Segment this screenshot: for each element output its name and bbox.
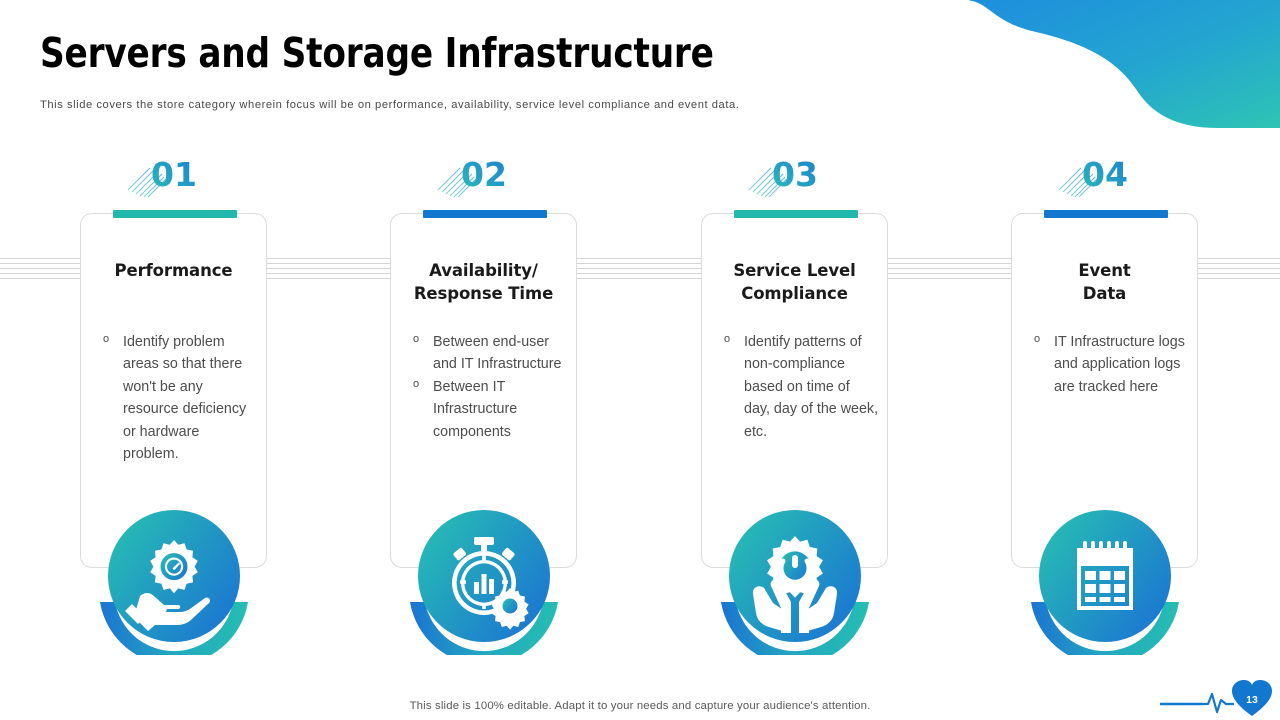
step-number-1-text: 01 — [151, 155, 197, 194]
slide-canvas: Servers and Storage Infrastructure This … — [0, 0, 1280, 720]
bullet-text: Between IT Infrastructure components — [433, 379, 517, 440]
slide-subtitle: This slide covers the store category whe… — [40, 99, 739, 111]
card-accent-bar-4 — [1044, 210, 1168, 218]
bullet-text: IT Infrastructure logs and application l… — [1054, 334, 1185, 395]
step-number-1: 01 — [74, 150, 274, 198]
bullet-marker: o — [413, 376, 419, 393]
card-icon-2 — [380, 510, 588, 655]
bullet-marker: o — [724, 331, 730, 348]
step-number-4-text: 04 — [1082, 155, 1128, 194]
card-accent-bar-1 — [113, 210, 237, 218]
feature-card-3[interactable]: 03 Service Level Compliance oIdentify pa… — [695, 150, 895, 198]
card-bullets-1: oIdentify problem areas so that there wo… — [103, 331, 258, 466]
step-number-3: 03 — [695, 150, 895, 198]
bullet-text: Between end-user and IT Infrastructure — [433, 334, 561, 372]
bullet-text: Identify patterns of non-compliance base… — [744, 334, 878, 440]
card-bullets-3: oIdentify patterns of non-compliance bas… — [724, 331, 879, 443]
bullet-marker: o — [103, 331, 109, 348]
bullet-item: oBetween IT Infrastructure components — [413, 376, 568, 443]
bullet-text: Identify problem areas so that there won… — [123, 334, 246, 462]
feature-card-1[interactable]: 01 Performance oIdentify problem areas s… — [74, 150, 274, 198]
card-title-2: Availability/ Response Time — [401, 259, 566, 306]
feature-card-2[interactable]: 02 Availability/ Response Time oBetween … — [384, 150, 584, 198]
card-icon-3 — [691, 510, 899, 655]
card-bullets-2: oBetween end-user and IT Infrastructureo… — [413, 331, 568, 443]
card-accent-bar-3 — [734, 210, 858, 218]
feature-card-4[interactable]: 04 Event Data oIT Infrastructure logs an… — [1005, 150, 1205, 198]
step-number-2: 02 — [384, 150, 584, 198]
bullet-item: oIdentify problem areas so that there wo… — [103, 331, 258, 466]
card-title-3: Service Level Compliance — [712, 259, 877, 306]
bullet-item: oIdentify patterns of non-compliance bas… — [724, 331, 879, 443]
step-number-2-text: 02 — [461, 155, 507, 194]
footer-note: This slide is 100% editable. Adapt it to… — [0, 700, 1280, 712]
card-title-1: Performance — [91, 259, 256, 282]
step-number-4: 04 — [1005, 150, 1205, 198]
card-icon-1 — [70, 510, 278, 655]
bullet-item: oIT Infrastructure logs and application … — [1034, 331, 1189, 398]
card-accent-bar-2 — [423, 210, 547, 218]
calendar-icon — [1077, 541, 1133, 610]
bullet-item: oBetween end-user and IT Infrastructure — [413, 331, 568, 376]
card-icon-4 — [1001, 510, 1209, 655]
slide-title: Servers and Storage Infrastructure — [40, 29, 714, 77]
bullet-marker: o — [413, 331, 419, 348]
page-number: 13 — [1241, 694, 1263, 706]
card-title-4: Event Data — [1022, 259, 1187, 306]
bullet-marker: o — [1034, 331, 1040, 348]
step-number-3-text: 03 — [772, 155, 818, 194]
card-bullets-4: oIT Infrastructure logs and application … — [1034, 331, 1189, 398]
decorative-wave-graphic — [940, 0, 1280, 135]
